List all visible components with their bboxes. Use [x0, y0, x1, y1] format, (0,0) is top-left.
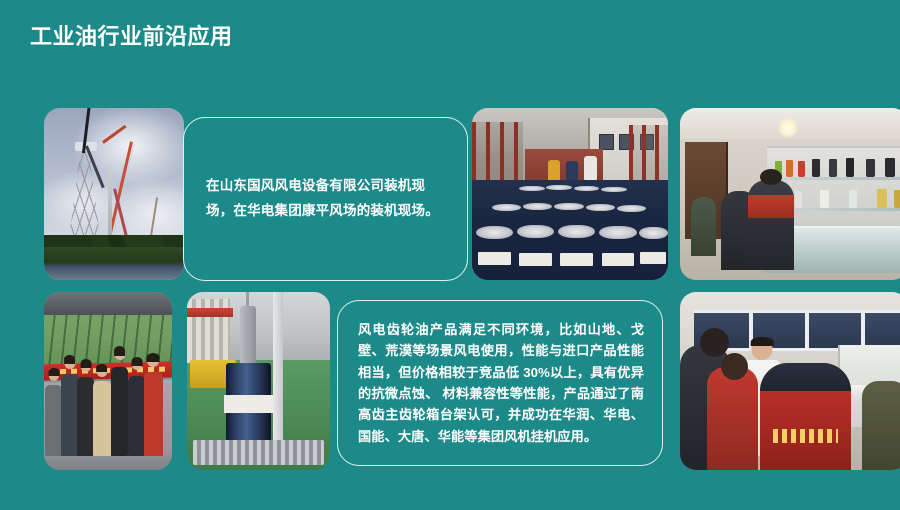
person: [144, 372, 163, 456]
person: [45, 385, 62, 456]
support-column: [273, 292, 283, 445]
oil-drum: [558, 225, 595, 275]
person: [93, 381, 111, 456]
drum-label-band: [224, 395, 272, 414]
photo-lab-visit: [680, 292, 900, 470]
oil-drum: [639, 227, 668, 273]
worker: [548, 160, 560, 181]
photo-group-banner: [44, 292, 172, 470]
worker: [566, 161, 578, 182]
callout-product-description-text: 风电齿轮油产品满足不同环境，比如山地、戈壁、荒漠等场景风电使用，性能与进口产品性…: [358, 319, 644, 447]
building-window: [599, 134, 614, 150]
staff-red-jacket-kunlun: [760, 363, 851, 470]
filling-nozzle: [240, 306, 256, 367]
callout-installation-sites: 在山东国风风电设备有限公司装机现场，在华电集团康平风场的装机现场。: [183, 117, 468, 281]
person: [111, 367, 129, 456]
callout-product-description: 风电齿轮油产品满足不同环境，比如山地、戈壁、荒漠等场景风电使用，性能与进口产品性…: [337, 300, 663, 466]
visitor-olive-jacket: [862, 381, 900, 470]
person: [128, 376, 145, 456]
roller-conveyor: [193, 440, 325, 465]
callout-installation-sites-text: 在山东国风风电设备有限公司装机现场，在华电集团康平风场的装机现场。: [206, 174, 445, 224]
oil-drum: [599, 226, 636, 275]
person: [77, 377, 94, 455]
visitor-red-coat: [707, 367, 757, 470]
rack-red-banner: [187, 308, 233, 317]
worker: [584, 156, 598, 180]
photo-oil-drums-truck: [472, 108, 668, 280]
staff-red-jacket: [748, 180, 794, 269]
slide-canvas: 工业油行业前沿应用 在山东国风风电设备有限公司装机现场，在华电集团康平风场的装机…: [0, 0, 900, 510]
jacket-text: [773, 429, 839, 443]
drum-stack: [472, 180, 668, 280]
photo-product-showroom: [680, 108, 900, 280]
roof-eave: [44, 292, 172, 315]
photo-wind-turbine-erection: [44, 108, 184, 280]
ground: [44, 247, 184, 280]
oil-drum: [517, 225, 554, 275]
oil-drum: [546, 185, 571, 205]
oil-drum: [476, 226, 513, 274]
visitor-far: [691, 197, 716, 255]
page-title: 工业油行业前沿应用: [30, 24, 233, 50]
oil-drum-kunlun: [226, 363, 272, 441]
photo-drum-filling-line: [187, 292, 330, 470]
person: [61, 374, 79, 456]
